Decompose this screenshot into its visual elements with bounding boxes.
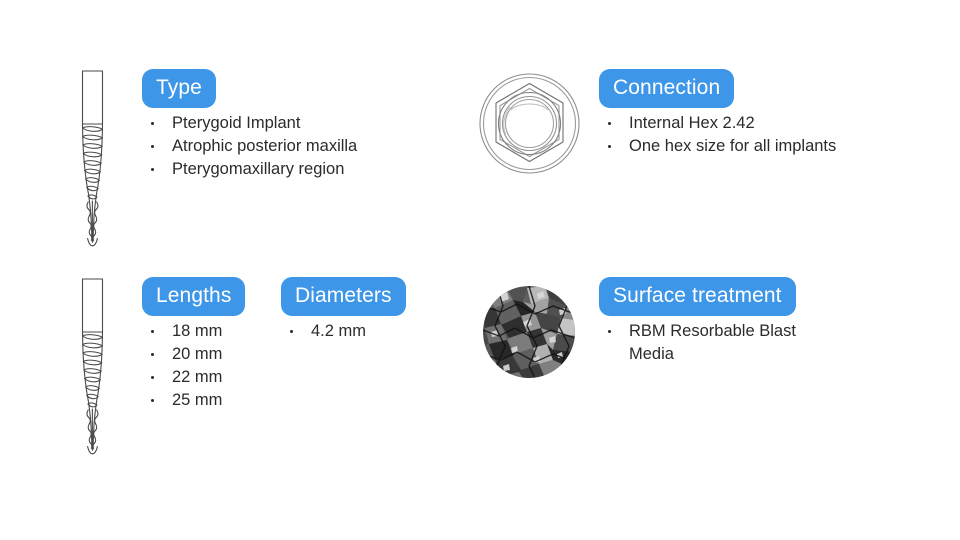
list-item-label: Atrophic posterior maxilla <box>172 137 357 155</box>
list-item-label: 4.2 mm <box>311 322 366 340</box>
section-badge-surface-treatment[interactable]: Surface treatment <box>599 277 796 316</box>
bullet-list-wrap-diameters: 4.2 mm <box>281 312 366 343</box>
list-item: RBM Resorbable Blast Media <box>599 320 796 366</box>
dental-implant-screw-icon <box>74 68 112 248</box>
bullet-dot-icon <box>151 376 154 379</box>
bullet-list-wrap-type: Pterygoid Implant Atrophic posterior max… <box>142 104 357 181</box>
bullet-dot-icon <box>608 330 611 333</box>
badge-wrap-diameters: Diameters <box>281 277 406 316</box>
implant-spec-infographic: Type Pterygoid Implant Atrophic posterio… <box>0 0 960 540</box>
list-item-label: Pterygoid Implant <box>172 114 300 132</box>
bullet-dot-icon <box>608 122 611 125</box>
bullet-dot-icon <box>151 122 154 125</box>
list-item-label: 25 mm <box>172 391 222 409</box>
badge-wrap-lengths: Lengths <box>142 277 245 316</box>
bullet-dot-icon <box>151 168 154 171</box>
list-item: Atrophic posterior maxilla <box>142 135 357 158</box>
list-item-label: One hex size for all implants <box>629 137 836 155</box>
implant-screw-figure-lengths <box>74 276 112 456</box>
bullet-list-wrap-surface: RBM Resorbable Blast Media <box>599 312 796 366</box>
list-item: Pterygoid Implant <box>142 112 357 135</box>
bullet-list-diameters: 4.2 mm <box>281 320 366 343</box>
bullet-list-type: Pterygoid Implant Atrophic posterior max… <box>142 112 357 181</box>
badge-wrap-surface: Surface treatment <box>599 277 796 316</box>
list-item: 4.2 mm <box>281 320 366 343</box>
list-item: 25 mm <box>142 389 222 412</box>
list-item: 20 mm <box>142 343 222 366</box>
implant-screw-figure-type <box>74 68 112 248</box>
bullet-list-surface: RBM Resorbable Blast Media <box>599 320 796 366</box>
rbm-surface-texture-icon <box>483 286 575 378</box>
list-item: One hex size for all implants <box>599 135 836 158</box>
bullet-dot-icon <box>151 399 154 402</box>
bullet-dot-icon <box>151 353 154 356</box>
section-badge-diameters[interactable]: Diameters <box>281 277 406 316</box>
list-item-label: Internal Hex 2.42 <box>629 114 755 132</box>
list-item-label: 20 mm <box>172 345 222 363</box>
bullet-list-wrap-lengths: 18 mm 20 mm 22 mm 25 mm <box>142 312 222 412</box>
dental-implant-screw-icon <box>74 276 112 456</box>
hex-connection-figure <box>478 72 581 175</box>
bullet-dot-icon <box>151 145 154 148</box>
list-item: 22 mm <box>142 366 222 389</box>
section-badge-connection[interactable]: Connection <box>599 69 734 108</box>
internal-hex-connection-icon <box>478 72 581 175</box>
bullet-dot-icon <box>151 330 154 333</box>
bullet-list-connection: Internal Hex 2.42 One hex size for all i… <box>599 112 836 158</box>
badge-wrap-connection: Connection <box>599 69 734 108</box>
bullet-dot-icon <box>290 330 293 333</box>
section-badge-type[interactable]: Type <box>142 69 216 108</box>
list-item-label: 18 mm <box>172 322 222 340</box>
list-item-label: 22 mm <box>172 368 222 386</box>
bullet-list-lengths: 18 mm 20 mm 22 mm 25 mm <box>142 320 222 412</box>
surface-texture-figure <box>483 286 575 378</box>
bullet-list-wrap-connection: Internal Hex 2.42 One hex size for all i… <box>599 104 836 158</box>
list-item: 18 mm <box>142 320 222 343</box>
badge-wrap-type: Type <box>142 69 216 108</box>
bullet-dot-icon <box>608 145 611 148</box>
section-badge-lengths[interactable]: Lengths <box>142 277 245 316</box>
list-item-label: RBM Resorbable Blast Media <box>629 322 796 363</box>
list-item: Pterygomaxillary region <box>142 158 357 181</box>
list-item-label: Pterygomaxillary region <box>172 160 344 178</box>
list-item: Internal Hex 2.42 <box>599 112 836 135</box>
